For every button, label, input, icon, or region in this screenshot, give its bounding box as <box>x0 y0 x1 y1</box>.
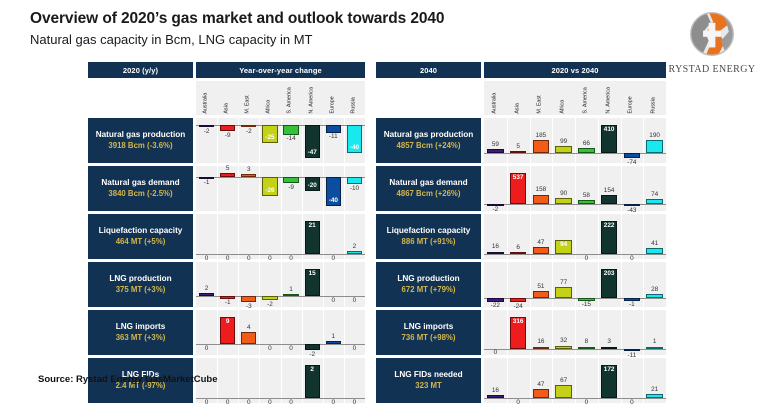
chart-row: LNG production375 MT (+3%)2-1-3-211500 <box>88 262 365 307</box>
bar-value-europe: -1 <box>621 301 644 308</box>
bar-value-europe: -11 <box>323 133 344 140</box>
gridline <box>323 358 324 403</box>
bar-value-asia: 0 <box>217 255 238 262</box>
category-axis-right: AustraliaAsiaM. EastAfricaS. AmericaN. A… <box>484 81 666 115</box>
bar-africa[interactable] <box>262 296 277 300</box>
row-label-title: Natural gas production <box>96 130 186 140</box>
page-subtitle: Natural gas capacity in Bcm, LNG capacit… <box>30 32 444 47</box>
bar-russia[interactable] <box>646 140 662 153</box>
source-note: Source: Rystad Energy GasMarketCube <box>38 374 218 385</box>
header-left-chart: Year-over-year change <box>196 62 365 78</box>
row-label-title: LNG imports <box>116 322 166 332</box>
category-label-s-america: S. America <box>288 88 294 114</box>
bar-chart-natural-gas-production-right: 5951859966410-74190 <box>484 118 666 163</box>
bar-value-s-america: 8 <box>575 338 598 345</box>
bar-value-n-america: 410 <box>598 126 621 133</box>
bar-chart-lng-imports-right: 0316163283-111 <box>484 310 666 355</box>
category-label-m-east: M. East <box>538 96 544 114</box>
bar-value-m-east: 0 <box>238 399 259 405</box>
gridline <box>643 118 644 163</box>
bar-africa[interactable] <box>555 346 571 349</box>
bar-value-europe: 0 <box>323 297 344 304</box>
bar-value-s-america: 0 <box>575 255 598 262</box>
bar-australia[interactable] <box>487 252 503 254</box>
gridline <box>323 166 324 211</box>
bar-m-east[interactable] <box>533 347 549 349</box>
row-label-title: LNG FIDs needed <box>394 370 462 380</box>
gridline <box>344 214 345 259</box>
gridline <box>281 214 282 259</box>
category-label-africa: Africa <box>560 100 566 114</box>
brand-logo: RYSTAD ENERGY <box>664 6 760 75</box>
bar-m-east[interactable] <box>533 389 549 398</box>
bar-value-n-america: 2 <box>302 366 323 373</box>
bar-value-europe: 0 <box>621 255 644 262</box>
bar-value-s-america: 0 <box>281 255 302 262</box>
row-label-title: Natural gas production <box>384 130 474 140</box>
bar-value-s-america: -9 <box>281 184 302 191</box>
bar-value-asia: 6 <box>507 244 530 251</box>
bar-value-russia: -40 <box>344 144 365 151</box>
row-label-natural-gas-production-left[interactable]: Natural gas production3918 Bcm (-3.6%) <box>88 118 193 163</box>
row-label-title: LNG production <box>397 274 459 284</box>
gridline <box>507 262 508 307</box>
bar-asia[interactable] <box>510 151 526 153</box>
chart-row: Liquefaction capacity464 MT (+5%)0000021… <box>88 214 365 259</box>
globe-icon <box>684 6 740 62</box>
bar-russia[interactable] <box>646 347 662 349</box>
bar-value-russia: 21 <box>643 386 666 393</box>
bar-value-m-east: 0 <box>238 255 259 262</box>
chart-row: LNG imports736 MT (+98%)0316163283-111 <box>376 310 666 355</box>
bar-value-russia: 190 <box>643 132 666 139</box>
bar-value-s-america: 0 <box>281 345 302 352</box>
bar-value-asia: 537 <box>507 174 530 181</box>
bar-value-australia: 2 <box>196 285 217 292</box>
bar-europe[interactable] <box>326 125 341 133</box>
bar-value-russia: 0 <box>344 345 365 352</box>
header-left-metric: 2020 (y/y) <box>88 62 193 78</box>
bar-value-australia: -2 <box>484 206 507 213</box>
bar-value-s-america: 58 <box>575 192 598 199</box>
bar-value-n-america: 15 <box>302 270 323 277</box>
bar-value-russia: 2 <box>344 243 365 250</box>
bar-value-europe: -40 <box>323 197 344 204</box>
bar-value-africa: 0 <box>259 399 280 405</box>
bar-value-australia: 16 <box>484 387 507 394</box>
chart-row: LNG production672 MT (+79%)-22-245177-15… <box>376 262 666 307</box>
header-right-metric: 2040 <box>376 62 481 78</box>
gridline <box>598 262 599 307</box>
chart-row: Liquefaction capacity886 MT (+91%)166479… <box>376 214 666 259</box>
category-label-s-america: S. America <box>583 88 589 114</box>
chart-row: Natural gas production4857 Bcm (+24%)595… <box>376 118 666 163</box>
gridline <box>217 214 218 259</box>
bar-s-america[interactable] <box>283 177 298 184</box>
bar-asia[interactable] <box>220 173 235 177</box>
bar-value-m-east: 47 <box>530 381 553 388</box>
bar-value-russia: 28 <box>643 286 666 293</box>
bar-n-america[interactable] <box>601 195 617 204</box>
category-label-n-america: N. America <box>309 87 315 114</box>
row-label-title: Natural gas demand <box>101 178 179 188</box>
category-header-spacer <box>376 81 481 115</box>
category-label-europe: Europe <box>330 97 336 114</box>
bar-value-africa: 94 <box>552 241 575 248</box>
bar-africa[interactable] <box>555 385 571 398</box>
bar-russia[interactable] <box>646 248 662 254</box>
category-label-australia: Australia <box>203 93 209 114</box>
bar-value-s-america: 1 <box>281 286 302 293</box>
bar-australia[interactable] <box>199 293 214 297</box>
gridline <box>217 166 218 211</box>
bar-asia[interactable] <box>220 125 235 131</box>
chart-row: LNG imports363 MT (+3%)09400-210 <box>88 310 365 355</box>
bar-africa[interactable] <box>555 198 571 203</box>
category-label-asia: Asia <box>224 104 230 115</box>
row-label-value: 4857 Bcm (+24%) <box>397 141 461 151</box>
gridline <box>259 358 260 403</box>
bar-russia[interactable] <box>347 251 362 254</box>
panel-2020-yoy: 2020 (y/y)Year-over-year changeAustralia… <box>88 62 365 405</box>
bar-chart-lng-fids-left: 00000200 <box>196 358 365 403</box>
chart-row: Natural gas demand4867 Bcm (+26%)-253715… <box>376 166 666 211</box>
chart-row: Natural gas demand3840 Bcm (-2.5%)-153-2… <box>88 166 365 211</box>
gridline <box>598 118 599 163</box>
bar-value-australia: 59 <box>484 141 507 148</box>
bar-m-east[interactable] <box>241 332 256 344</box>
bar-value-asia: 5 <box>507 143 530 150</box>
bar-value-s-america: 0 <box>575 399 598 405</box>
category-label-m-east: M. East <box>246 96 252 114</box>
category-header-row-right: AustraliaAsiaM. EastAfricaS. AmericaN. A… <box>376 81 666 115</box>
bar-s-america[interactable] <box>578 148 594 153</box>
bar-m-east[interactable] <box>533 140 549 153</box>
bar-value-n-america: -47 <box>302 149 323 156</box>
row-label-natural-gas-demand-left[interactable]: Natural gas demand3840 Bcm (-2.5%) <box>88 166 193 211</box>
rows-right: AustraliaAsiaM. EastAfricaS. AmericaN. A… <box>376 81 666 403</box>
bar-chart-natural-gas-demand-left: -153-26-9-20-40-10 <box>196 166 365 211</box>
gridline <box>217 310 218 355</box>
row-label-value: 375 MT (+3%) <box>116 285 166 295</box>
row-label-value: 363 MT (+3%) <box>116 333 166 343</box>
gridline <box>507 358 508 403</box>
bar-value-europe: 0 <box>621 399 644 405</box>
bar-europe[interactable] <box>624 153 640 158</box>
bar-value-n-america: 172 <box>598 366 621 373</box>
row-label-lng-imports-right[interactable]: LNG imports736 MT (+98%) <box>376 310 481 355</box>
bar-value-n-america: 222 <box>598 222 621 229</box>
chart-row: LNG FIDs needed323 MT16047670172021 <box>376 358 666 403</box>
bar-value-m-east: 47 <box>530 239 553 246</box>
gridline <box>238 358 239 403</box>
gridline <box>552 214 553 259</box>
bar-value-russia: -10 <box>344 185 365 192</box>
row-label-title: LNG imports <box>404 322 454 332</box>
row-label-title: LNG production <box>109 274 171 284</box>
gridline <box>238 214 239 259</box>
row-label-value: 464 MT (+5%) <box>116 237 166 247</box>
bar-chart-lng-production-right: -22-245177-15203-128 <box>484 262 666 307</box>
bar-asia[interactable] <box>510 252 526 254</box>
bar-value-s-america: -14 <box>281 135 302 142</box>
bar-value-australia: 0 <box>196 255 217 262</box>
slide-canvas: Overview of 2020’s gas market and outloo… <box>0 0 768 405</box>
row-label-lng-fids-needed-right[interactable]: LNG FIDs needed323 MT <box>376 358 481 403</box>
bar-value-australia: -1 <box>196 179 217 186</box>
gridline <box>621 214 622 259</box>
bar-n-america[interactable] <box>601 347 617 349</box>
bar-europe[interactable] <box>326 341 341 344</box>
row-label-natural-gas-demand-right[interactable]: Natural gas demand4867 Bcm (+26%) <box>376 166 481 211</box>
bar-asia[interactable] <box>510 298 526 301</box>
gridline <box>643 358 644 403</box>
gridline <box>259 214 260 259</box>
bar-value-europe: -74 <box>621 159 644 166</box>
bar-value-russia: 0 <box>344 297 365 304</box>
gridline <box>302 214 303 259</box>
row-label-value: 886 MT (+91%) <box>402 237 456 247</box>
bar-value-s-america: 0 <box>281 399 302 405</box>
row-label-value: 3840 Bcm (-2.5%) <box>108 189 172 199</box>
header-right-chart: 2020 vs 2040 <box>484 62 666 78</box>
bar-value-africa: 0 <box>259 255 280 262</box>
bar-chart-natural-gas-production-left: -2-9-2-25-14-47-11-40 <box>196 118 365 163</box>
bar-value-africa: 90 <box>552 190 575 197</box>
chart-row: Natural gas production3918 Bcm (-3.6%)-2… <box>88 118 365 163</box>
bar-chart-lng-fids-needed-right: 16047670172021 <box>484 358 666 403</box>
gridline <box>323 214 324 259</box>
row-label-value: 672 MT (+79%) <box>402 285 456 295</box>
bar-chart-lng-production-left: 2-1-3-211500 <box>196 262 365 307</box>
bar-s-america[interactable] <box>578 347 594 349</box>
gridline <box>281 358 282 403</box>
bar-value-m-east: -3 <box>238 303 259 310</box>
gridline <box>621 118 622 163</box>
bar-value-russia: 0 <box>344 399 365 405</box>
bar-russia[interactable] <box>646 394 662 398</box>
row-label-natural-gas-production-right[interactable]: Natural gas production4857 Bcm (+24%) <box>376 118 481 163</box>
gridline <box>238 262 239 307</box>
bar-chart-liquefaction-capacity-right: 16647940222041 <box>484 214 666 259</box>
bar-value-europe: 0 <box>323 399 344 405</box>
bar-value-asia: 9 <box>217 318 238 325</box>
bar-value-s-america: -15 <box>575 301 598 308</box>
gridline <box>302 310 303 355</box>
row-label-liquefaction-capacity-right[interactable]: Liquefaction capacity886 MT (+91%) <box>376 214 481 259</box>
row-label-title: Liquefaction capacity <box>99 226 183 236</box>
bar-australia[interactable] <box>487 149 503 153</box>
bar-value-asia: -24 <box>507 303 530 310</box>
panel-header-band-left: 2020 (y/y)Year-over-year change <box>88 62 365 78</box>
rows-left: AustraliaAsiaM. EastAfricaS. AmericaN. A… <box>88 81 365 403</box>
bar-value-europe: 0 <box>323 255 344 262</box>
bar-value-asia: 5 <box>217 165 238 172</box>
bar-value-asia: 316 <box>507 318 530 325</box>
bar-n-america[interactable] <box>305 344 320 350</box>
category-label-asia: Asia <box>515 104 521 115</box>
bar-chart-lng-imports-left: 09400-210 <box>196 310 365 355</box>
gridline <box>643 262 644 307</box>
bar-value-m-east: 3 <box>238 166 259 173</box>
bar-m-east[interactable] <box>533 247 549 254</box>
bar-m-east[interactable] <box>533 195 549 204</box>
bar-africa[interactable] <box>555 287 571 298</box>
bar-value-m-east: -2 <box>238 128 259 135</box>
bar-s-america[interactable] <box>283 125 298 135</box>
row-label-title: Liquefaction capacity <box>387 226 471 236</box>
row-label-value: 4867 Bcm (+26%) <box>397 189 461 199</box>
row-label-lng-production-left[interactable]: LNG production375 MT (+3%) <box>88 262 193 307</box>
category-header-row-left: AustraliaAsiaM. EastAfricaS. AmericaN. A… <box>88 81 365 115</box>
bar-africa[interactable] <box>555 146 571 153</box>
gridline <box>530 214 531 259</box>
page-title: Overview of 2020’s gas market and outloo… <box>30 10 444 28</box>
category-header-spacer <box>88 81 193 115</box>
bar-s-america[interactable] <box>283 294 298 296</box>
gridline <box>507 118 508 163</box>
gridline <box>238 310 239 355</box>
bar-value-asia: 0 <box>507 399 530 405</box>
bar-value-m-east: 158 <box>530 186 553 193</box>
category-label-n-america: N. America <box>606 87 612 114</box>
gridline <box>281 262 282 307</box>
category-label-russia: Russia <box>351 98 357 114</box>
bar-chart-liquefaction-capacity-left: 000002102 <box>196 214 365 259</box>
gridline <box>598 214 599 259</box>
row-label-value: 736 MT (+98%) <box>402 333 456 343</box>
row-label-lng-production-right[interactable]: LNG production672 MT (+79%) <box>376 262 481 307</box>
bar-value-australia: 0 <box>484 349 507 356</box>
bar-value-m-east: 185 <box>530 132 553 139</box>
bar-s-america[interactable] <box>578 200 594 203</box>
bar-russia[interactable] <box>646 199 662 203</box>
bar-value-africa: 32 <box>552 337 575 344</box>
row-label-value: 3918 Bcm (-3.6%) <box>108 141 172 151</box>
bar-value-africa: 0 <box>259 345 280 352</box>
bar-value-n-america: 21 <box>302 222 323 229</box>
bar-value-asia: -9 <box>217 132 238 139</box>
bar-australia[interactable] <box>487 395 503 398</box>
bar-value-russia: 41 <box>643 240 666 247</box>
bar-value-africa: -26 <box>259 187 280 194</box>
bar-value-n-america: -2 <box>302 351 323 358</box>
bar-value-australia: 0 <box>196 345 217 352</box>
panel-2040-vs: 20402020 vs 2040AustraliaAsiaM. EastAfri… <box>376 62 666 405</box>
bar-value-australia: -2 <box>196 128 217 135</box>
gridline <box>575 214 576 259</box>
gridline <box>302 262 303 307</box>
row-label-value: 323 MT <box>415 381 441 391</box>
bar-value-africa: 77 <box>552 279 575 286</box>
row-label-lng-imports-left[interactable]: LNG imports363 MT (+3%) <box>88 310 193 355</box>
bar-value-n-america: 3 <box>598 338 621 345</box>
gridline <box>621 262 622 307</box>
gridline <box>575 262 576 307</box>
bar-value-m-east: 4 <box>238 324 259 331</box>
bar-value-russia: 1 <box>643 338 666 345</box>
bar-australia[interactable] <box>487 298 503 301</box>
bar-value-australia: -22 <box>484 302 507 309</box>
gridline <box>344 358 345 403</box>
row-label-liquefaction-capacity-left[interactable]: Liquefaction capacity464 MT (+5%) <box>88 214 193 259</box>
bar-value-africa: -2 <box>259 301 280 308</box>
gridline <box>621 358 622 403</box>
gridline <box>302 358 303 403</box>
category-label-europe: Europe <box>629 97 635 114</box>
category-label-africa: Africa <box>267 100 273 114</box>
bar-value-africa: 67 <box>552 377 575 384</box>
gridline <box>643 214 644 259</box>
bar-m-east[interactable] <box>241 174 256 176</box>
bar-value-africa: -25 <box>259 134 280 141</box>
bar-value-europe: 1 <box>323 333 344 340</box>
bar-value-n-america: 203 <box>598 270 621 277</box>
bar-value-australia: 0 <box>196 399 217 405</box>
gridline <box>530 118 531 163</box>
gridline <box>598 358 599 403</box>
bar-m-east[interactable] <box>533 291 549 298</box>
bar-value-asia: 0 <box>217 399 238 405</box>
row-label-title: Natural gas demand <box>389 178 467 188</box>
bar-value-australia: 16 <box>484 243 507 250</box>
bar-value-n-america: 154 <box>598 187 621 194</box>
category-axis-left: AustraliaAsiaM. EastAfricaS. AmericaN. A… <box>196 81 365 115</box>
logo-wordmark: RYSTAD ENERGY <box>664 64 760 75</box>
bar-m-east[interactable] <box>241 296 256 302</box>
bar-value-m-east: 51 <box>530 283 553 290</box>
bar-value-europe: -43 <box>621 207 644 214</box>
header-block: Overview of 2020’s gas market and outloo… <box>30 10 444 47</box>
bar-value-s-america: 66 <box>575 140 598 147</box>
gridline <box>507 214 508 259</box>
bar-value-m-east: 16 <box>530 338 553 345</box>
gridline <box>575 358 576 403</box>
bar-value-africa: 99 <box>552 138 575 145</box>
panel-header-band-right: 20402020 vs 2040 <box>376 62 666 78</box>
category-label-russia: Russia <box>651 98 657 114</box>
bar-russia[interactable] <box>646 294 662 298</box>
bar-value-asia: -1 <box>217 299 238 306</box>
bar-value-russia: 74 <box>643 191 666 198</box>
bar-chart-natural-gas-demand-right: -25371589058154-4374 <box>484 166 666 211</box>
category-label-australia: Australia <box>492 93 498 114</box>
bar-russia[interactable] <box>347 177 362 184</box>
bar-value-n-america: -20 <box>302 182 323 189</box>
